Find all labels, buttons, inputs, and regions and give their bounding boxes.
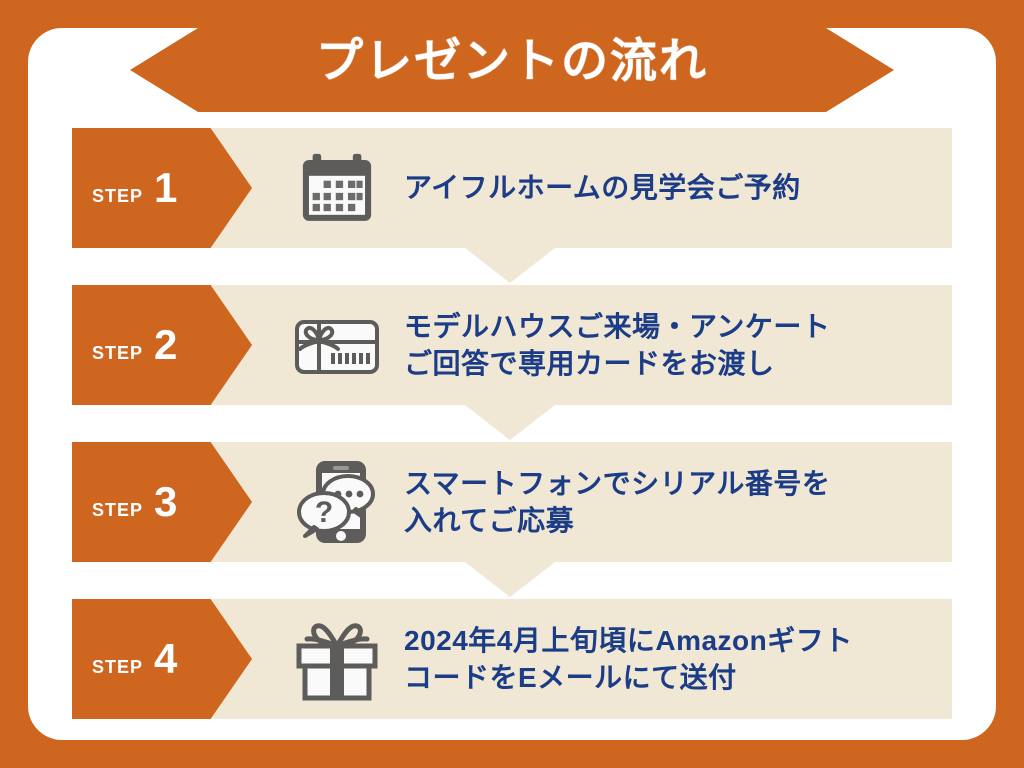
step-word-3: STEP [92,494,143,523]
step-text-4: 2024年4月上旬頃にAmazonギフト コードをEメールにて送付 [404,599,853,719]
step-text-line: スマートフォンでシリアル番号を [404,465,830,502]
steps-list: STEP 1 [0,0,1024,768]
step-text-line: 入れてご応募 [404,502,830,539]
step-text-2: モデルハウスご来場・アンケート ご回答で専用カードをお渡し [404,285,830,405]
step-word-2: STEP [92,337,143,366]
step-number-2: 2 [154,324,177,366]
connector-arrow-3 [465,562,555,597]
step-row-4[interactable]: STEP 4 2024年4月上旬頃にAmazonギフト コードをEメールにて送付 [72,599,952,719]
step-row-1[interactable]: STEP 1 [72,128,952,248]
step-text-line: モデルハウスご来場・アンケート [404,308,830,345]
step-text-line: 2024年4月上旬頃にAmazonギフト [404,622,853,659]
svg-text:?: ? [315,496,333,529]
infographic-stage: プレゼントの流れ STEP 1 [0,0,1024,768]
step-text-line: コードをEメールにて送付 [404,659,853,696]
step-word-4: STEP [92,651,143,680]
smartphone-chat-icon: ? [272,442,402,562]
step-text-1: アイフルホームの見学会ご予約 [404,128,801,248]
step-text-line: アイフルホームの見学会ご予約 [404,169,801,206]
step-row-3[interactable]: STEP 3 ? スマートフォンでシ [72,442,952,562]
calendar-icon [272,128,402,248]
step-text-line: ご回答で専用カードをお渡し [404,345,830,382]
connector-arrow-1 [465,248,555,283]
step-word-1: STEP [92,180,143,209]
connector-arrow-2 [465,405,555,440]
step-number-4: 4 [154,638,177,680]
gift-box-icon [272,599,402,719]
step-number-1: 1 [154,167,177,209]
gift-card-icon [272,285,402,405]
step-number-3: 3 [154,481,177,523]
step-row-2[interactable]: STEP 2 [72,285,952,405]
step-text-3: スマートフォンでシリアル番号を 入れてご応募 [404,442,830,562]
